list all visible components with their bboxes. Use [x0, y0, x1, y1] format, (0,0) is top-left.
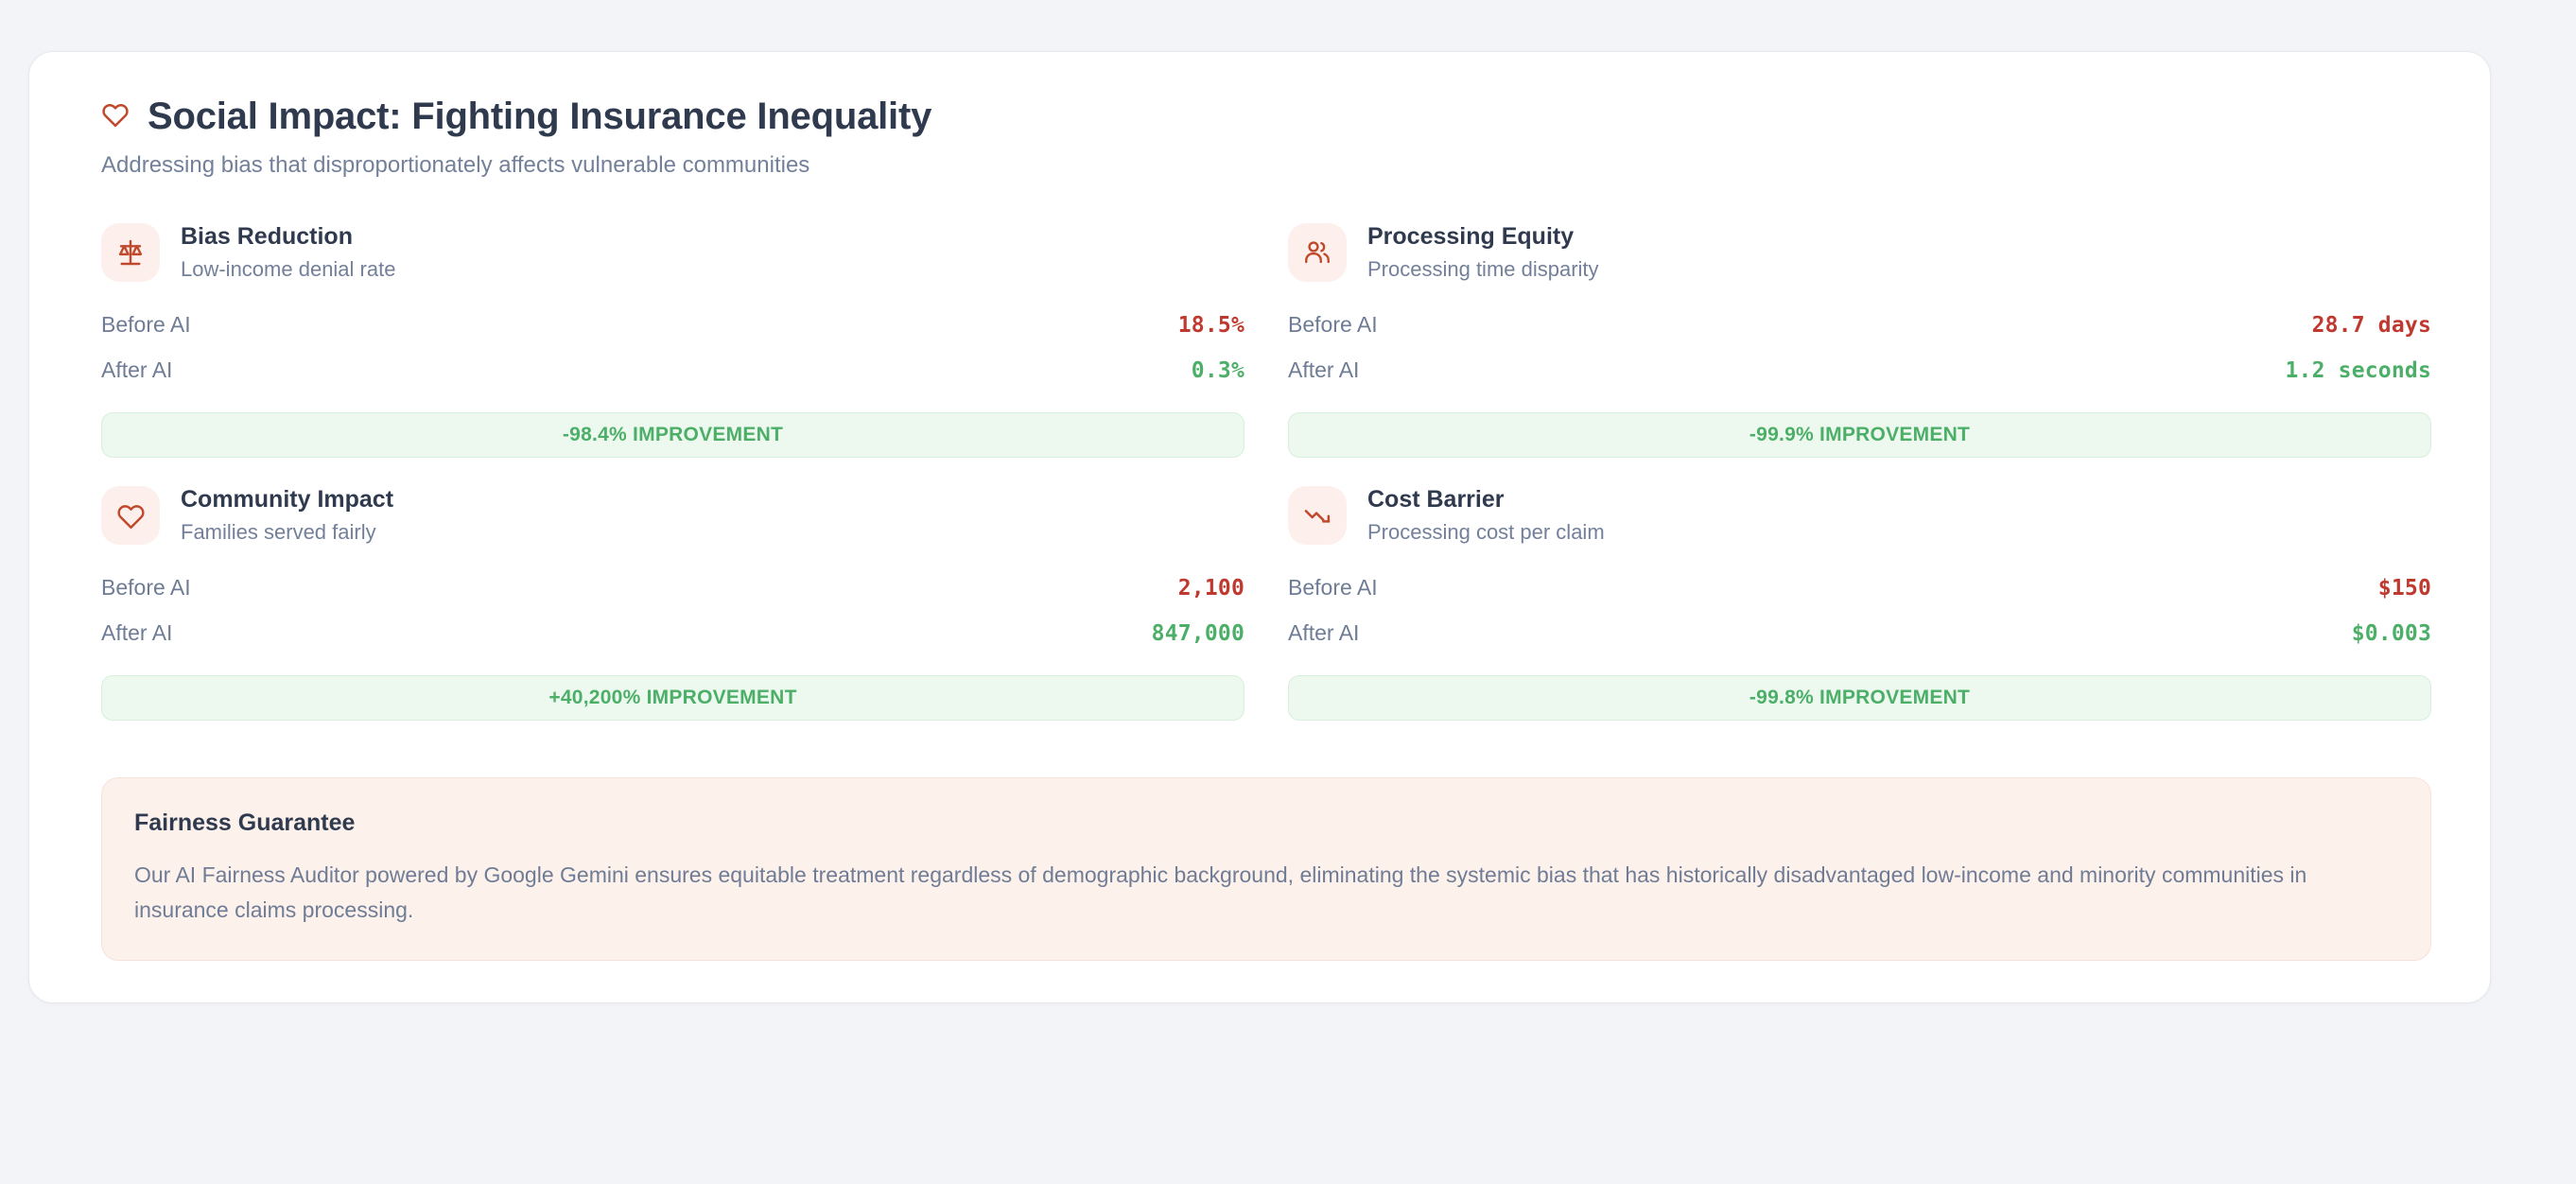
metric-row-after: After AI 0.3% — [101, 353, 1244, 398]
page-title: Social Impact: Fighting Insurance Inequa… — [148, 96, 931, 137]
improvement-badge: -99.8% IMPROVEMENT — [1288, 675, 2431, 721]
metric-titles: Community Impact Families served fairly — [181, 486, 393, 545]
metric-header: Cost Barrier Processing cost per claim — [1288, 486, 2431, 545]
metric-card-community-impact: Community Impact Families served fairly … — [101, 486, 1244, 749]
social-impact-panel: Social Impact: Fighting Insurance Inequa… — [28, 51, 2491, 1003]
after-value: 1.2 seconds — [2285, 358, 2431, 383]
after-value: 0.3% — [1192, 358, 1244, 383]
improvement-badge: -98.4% IMPROVEMENT — [101, 412, 1244, 458]
fairness-guarantee-box: Fairness Guarantee Our AI Fairness Audit… — [101, 777, 2431, 961]
metric-titles: Processing Equity Processing time dispar… — [1367, 223, 1599, 282]
before-label: Before AI — [1288, 312, 1378, 338]
metric-card-bias-reduction: Bias Reduction Low-income denial rate Be… — [101, 223, 1244, 486]
fairness-guarantee-title: Fairness Guarantee — [134, 809, 2398, 837]
heart-icon — [101, 486, 160, 545]
metric-titles: Bias Reduction Low-income denial rate — [181, 223, 395, 282]
before-value: 2,100 — [1178, 576, 1244, 601]
before-label: Before AI — [101, 312, 191, 338]
metric-header: Processing Equity Processing time dispar… — [1288, 223, 2431, 282]
trending-down-icon — [1288, 486, 1347, 545]
users-icon — [1288, 223, 1347, 282]
page-root: Social Impact: Fighting Insurance Inequa… — [0, 0, 2576, 1184]
improvement-badge: +40,200% IMPROVEMENT — [101, 675, 1244, 721]
fairness-guarantee-body: Our AI Fairness Auditor powered by Googl… — [134, 858, 2398, 928]
metric-row-before: Before AI 28.7 days — [1288, 307, 2431, 353]
metric-row-after: After AI $0.003 — [1288, 616, 2431, 661]
metric-description: Families served fairly — [181, 520, 393, 545]
metrics-grid: Bias Reduction Low-income denial rate Be… — [73, 223, 2446, 749]
heart-icon — [101, 101, 130, 132]
metric-name: Cost Barrier — [1367, 486, 1605, 514]
improvement-text: -99.8% IMPROVEMENT — [1749, 687, 1970, 709]
metric-header: Community Impact Families served fairly — [101, 486, 1244, 545]
improvement-badge: -99.9% IMPROVEMENT — [1288, 412, 2431, 458]
metric-card-cost-barrier: Cost Barrier Processing cost per claim B… — [1288, 486, 2431, 749]
metric-description: Processing cost per claim — [1367, 520, 1605, 545]
metric-rows: Before AI $150 After AI $0.003 — [1288, 570, 2431, 661]
metric-row-before: Before AI 2,100 — [101, 570, 1244, 616]
after-label: After AI — [1288, 357, 1359, 383]
after-label: After AI — [101, 620, 172, 646]
metric-row-after: After AI 1.2 seconds — [1288, 353, 2431, 398]
metric-name: Community Impact — [181, 486, 393, 514]
before-label: Before AI — [101, 575, 191, 601]
scales-balance-icon — [101, 223, 160, 282]
before-value: $150 — [2378, 576, 2431, 601]
improvement-text: -99.9% IMPROVEMENT — [1749, 424, 1970, 446]
metric-card-processing-equity: Processing Equity Processing time dispar… — [1288, 223, 2431, 486]
before-value: 28.7 days — [2312, 313, 2431, 338]
metric-rows: Before AI 18.5% After AI 0.3% — [101, 307, 1244, 398]
metric-header: Bias Reduction Low-income denial rate — [101, 223, 1244, 282]
after-value: $0.003 — [2352, 621, 2431, 646]
panel-header: Social Impact: Fighting Insurance Inequa… — [73, 92, 2446, 180]
after-label: After AI — [1288, 620, 1359, 646]
page-subtitle: Addressing bias that disproportionately … — [101, 150, 2446, 180]
metric-row-after: After AI 847,000 — [101, 616, 1244, 661]
metric-row-before: Before AI 18.5% — [101, 307, 1244, 353]
metric-row-before: Before AI $150 — [1288, 570, 2431, 616]
metric-description: Low-income denial rate — [181, 257, 395, 282]
before-value: 18.5% — [1178, 313, 1244, 338]
metric-name: Processing Equity — [1367, 223, 1599, 251]
metric-rows: Before AI 28.7 days After AI 1.2 seconds — [1288, 307, 2431, 398]
metric-name: Bias Reduction — [181, 223, 395, 251]
improvement-text: -98.4% IMPROVEMENT — [563, 424, 783, 446]
after-label: After AI — [101, 357, 172, 383]
metric-description: Processing time disparity — [1367, 257, 1599, 282]
metric-rows: Before AI 2,100 After AI 847,000 — [101, 570, 1244, 661]
metric-titles: Cost Barrier Processing cost per claim — [1367, 486, 1605, 545]
improvement-text: +40,200% IMPROVEMENT — [548, 687, 796, 709]
after-value: 847,000 — [1152, 621, 1244, 646]
before-label: Before AI — [1288, 575, 1378, 601]
title-row: Social Impact: Fighting Insurance Inequa… — [101, 96, 2446, 137]
